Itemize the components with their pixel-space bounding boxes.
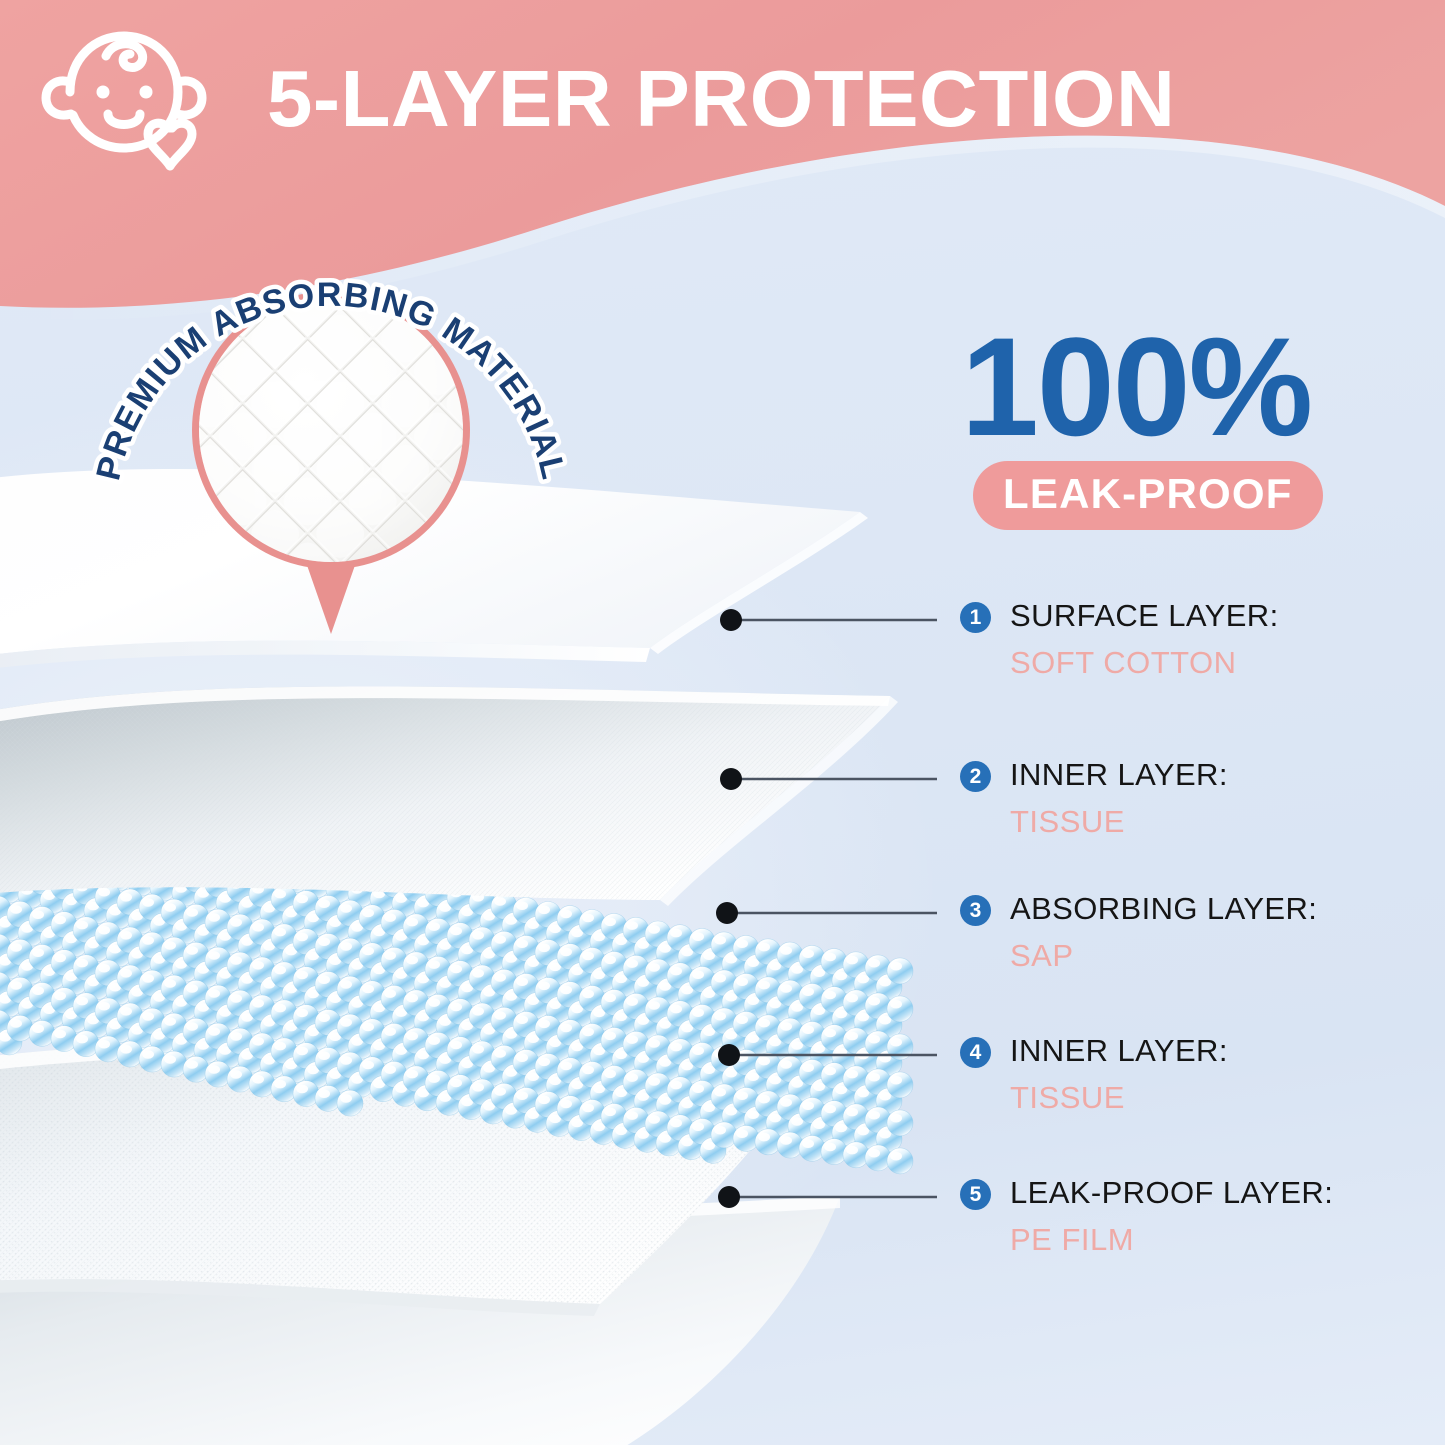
baby-face-icon — [36, 20, 211, 180]
layer-number-badge-5: 5 — [960, 1179, 991, 1210]
layer-callout-5[interactable]: 5 LEAK-PROOF LAYER: PE FILM — [960, 1177, 1440, 1257]
layer-title-2: INNER LAYER: — [1010, 759, 1228, 792]
layer-number-badge-2: 2 — [960, 761, 991, 792]
infographic-canvas: 5-LAYER PROTECTION — [0, 0, 1445, 1445]
layer-title-4: INNER LAYER: — [1010, 1035, 1228, 1068]
layer-title-5: LEAK-PROOF LAYER: — [1010, 1177, 1333, 1210]
layer-material-2: TISSUE — [1010, 806, 1440, 839]
layer-material-1: SOFT COTTON — [1010, 647, 1440, 680]
leak-proof-badge: LEAK-PROOF — [973, 461, 1323, 530]
hero-percent: 100% — [955, 318, 1425, 455]
layer-material-4: TISSUE — [1010, 1082, 1440, 1115]
layer-material-3: SAP — [1010, 940, 1440, 973]
layer-number-badge-4: 4 — [960, 1037, 991, 1068]
header-title-row: 5-LAYER PROTECTION — [0, 0, 1445, 215]
layer-callout-4[interactable]: 4 INNER LAYER: TISSUE — [960, 1035, 1440, 1115]
layer-title-1: SURFACE LAYER: — [1010, 600, 1279, 633]
page-title: 5-LAYER PROTECTION — [267, 59, 1175, 139]
premium-absorbing-material-badge: PREMIUM ABSORBING MATERIAL PREMIUM ABSOR… — [96, 228, 566, 688]
layer-number-badge-1: 1 — [960, 602, 991, 633]
layer-callout-2[interactable]: 2 INNER LAYER: TISSUE — [960, 759, 1440, 839]
layer-callout-3[interactable]: 3 ABSORBING LAYER: SAP — [960, 893, 1440, 973]
layer-number-badge-3: 3 — [960, 895, 991, 926]
layer-material-5: PE FILM — [1010, 1224, 1440, 1257]
layer-callout-1[interactable]: 1 SURFACE LAYER: SOFT COTTON — [960, 600, 1440, 680]
layer-title-3: ABSORBING LAYER: — [1010, 893, 1317, 926]
leak-proof-hero: 100% LEAK-PROOF — [955, 318, 1425, 530]
